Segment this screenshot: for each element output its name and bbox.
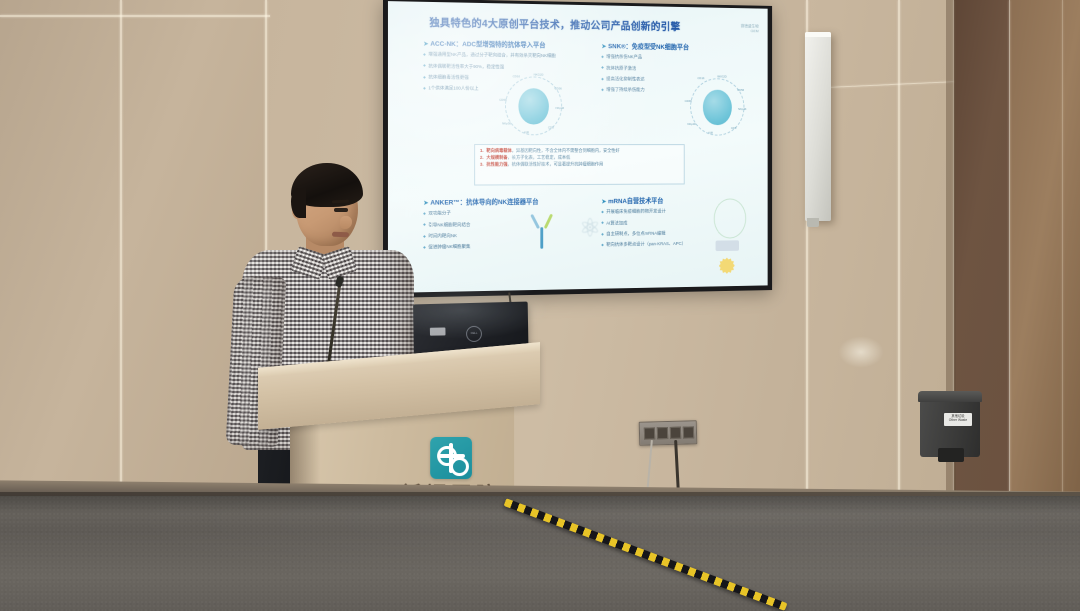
wall-outlet-plate[interactable] xyxy=(639,420,698,446)
mrna-badge-icon xyxy=(719,257,734,273)
bullet-dot-icon xyxy=(423,87,426,90)
presenter-eye xyxy=(334,208,348,212)
bullet-dot-icon xyxy=(423,76,426,79)
mrna-diagram xyxy=(714,198,746,238)
cell-receptor-label: CD56 xyxy=(555,86,562,90)
bullet-dot-icon xyxy=(423,65,426,68)
bullet-dot-icon xyxy=(601,88,604,91)
wall-seam-vertical-6 xyxy=(1009,0,1010,510)
outlet-port[interactable] xyxy=(644,427,655,439)
bullet-item: 增强通用型NK产品，通过分子靶向结合，并有效杀灭靶向NK细胞 xyxy=(423,52,596,61)
cell-receptor-label: NKp46 xyxy=(738,107,746,111)
slide-quadrant-mrna: ➤mRNA自营技术平台 开展临床免疫细胞药物开发设计 AI算法加成 自主研制点，… xyxy=(602,195,716,249)
cell-receptor-label: CD16 xyxy=(513,74,520,78)
bullet-dot-icon xyxy=(601,56,604,59)
mrna-capsule xyxy=(716,240,739,251)
antibody-diagram xyxy=(522,211,577,266)
arrow-icon: ➤ xyxy=(602,199,607,205)
trash-bin-label: 其他垃圾 Other Waste xyxy=(944,413,972,426)
speaker-bottom-bracket xyxy=(807,218,819,227)
outlet-port[interactable] xyxy=(657,427,668,439)
cell-receptor-label: CD56 xyxy=(737,88,744,92)
bullet-item: 抗体偶联靶活性率大于90%，稳定性强 xyxy=(423,63,596,72)
bullet-item: 靶向抗体多靶点设计（pan-KRAS、APC） xyxy=(602,241,716,249)
cell-receptor-label: CD16 xyxy=(697,76,704,80)
slide-corner-logo-line2: GEM xyxy=(741,29,759,34)
clifford-hospital-cross-logo-icon xyxy=(430,437,472,479)
quadrant-heading-acc-nk: ➤ACC-NK：ADC型增强特的抗体导入平台 xyxy=(423,38,596,50)
bullet-dot-icon xyxy=(423,53,426,56)
trash-bin[interactable]: 其他垃圾 Other Waste xyxy=(920,391,980,463)
cell-receptor-label: NKp30 xyxy=(502,121,511,125)
cell-receptor-label: CD69 xyxy=(499,98,506,102)
outlet-port[interactable] xyxy=(683,426,694,438)
cell-receptor-label: NKp46 xyxy=(556,106,565,110)
bullet-item: 提高活化抑制性表达 xyxy=(602,76,712,84)
trash-bin-pedal[interactable] xyxy=(938,448,964,462)
cell-receptor-label: NKG2D xyxy=(534,73,544,77)
wall-seam-vertical-4 xyxy=(898,0,900,505)
bullet-item: AI算法加成 xyxy=(602,219,716,227)
cell-receptor-label: NKp30 xyxy=(687,122,695,126)
bullet-dot-icon xyxy=(601,77,604,80)
arrow-icon: ➤ xyxy=(423,42,428,48)
wall-panel-wood-right xyxy=(1010,0,1080,512)
slide-title: 独具特色的4大原创平台技术，推动公司产品创新的引擎 xyxy=(429,15,739,35)
outlet-port[interactable] xyxy=(670,427,681,439)
bullet-item: 自主研制点，多位点mRNA编辑 xyxy=(602,230,716,238)
projection-screen: 独具特色的4大原创平台技术，推动公司产品创新的引擎 赛德盛生物 GEM ➤ACC… xyxy=(383,0,772,298)
slide-highlight-box: 1.靶向病毒载体，异基因靶向性，不含全体内不需整合到细胞内，安全性好 2.大规模… xyxy=(474,144,685,185)
presenter-mouth xyxy=(332,232,349,238)
dell-logo-icon xyxy=(466,326,482,342)
wall-seam-vertical-1 xyxy=(120,0,122,498)
laptop-sticker xyxy=(430,327,446,335)
logo-loop-lower-right xyxy=(450,457,469,476)
bullet-item: 增强抗杀伤NK产品 xyxy=(602,54,712,62)
bullet-item: 抗体细胞毒活性更强 xyxy=(423,74,596,82)
cell-receptor-label: NKG2D xyxy=(717,75,726,79)
cell-receptor-label: KIR xyxy=(524,130,529,134)
bullet-dot-icon xyxy=(601,211,604,214)
conference-room-photo: 独具特色的4大原创平台技术，推动公司产品创新的引擎 赛德盛生物 GEM ➤ACC… xyxy=(0,0,1080,611)
bullet-dot-icon xyxy=(601,244,604,247)
cell-receptor-label: CD3 xyxy=(731,126,736,130)
slide-quadrant-snk: ➤SNK®：免疫型受NK细胞平台 增强抗杀伤NK产品 抗体抗原子激活 提高活化抑… xyxy=(602,40,712,94)
wall-seam-horizontal-top xyxy=(0,15,270,17)
highlight-line: 3.抗性能力强，抗体偶联活性好技术，可显著提升抗肿瘤细胞作用 xyxy=(480,161,679,168)
bullet-dot-icon xyxy=(601,222,604,225)
cell-receptor-label: CD3 xyxy=(548,126,554,130)
wall-mounted-column-speaker xyxy=(805,32,831,221)
speaker-top-cap xyxy=(805,32,831,37)
bullet-dot-icon xyxy=(601,233,604,236)
bullet-dot-icon xyxy=(601,67,604,70)
slide-quadrant-acc-nk: ➤ACC-NK：ADC型增强特的抗体导入平台 增强通用型NK产品，通过分子靶向结… xyxy=(423,38,596,94)
cell-receptor-label: KIR xyxy=(708,131,713,135)
cell-receptor-label: CD69 xyxy=(685,99,692,103)
quadrant-heading-snk: ➤SNK®：免疫型受NK细胞平台 xyxy=(602,40,712,51)
quadrant-heading-mrna: ➤mRNA自营技术平台 xyxy=(602,195,716,205)
presenter-sideburn xyxy=(291,188,306,218)
arrow-icon: ➤ xyxy=(602,44,607,50)
presentation-slide: 独具特色的4大原创平台技术，推动公司产品创新的引擎 赛德盛生物 GEM ➤ACC… xyxy=(388,1,768,293)
quadrant-heading-anker: ➤ANKER™：抗体导向的NK连接器平台 xyxy=(423,196,577,207)
slide-corner-logo: 赛德盛生物 GEM xyxy=(741,23,759,34)
bullet-item: 开展临床免疫细胞药物开发设计 xyxy=(602,209,716,217)
bullet-item: 抗体抗原子激活 xyxy=(602,65,712,73)
trash-bin-label-en: Other Waste xyxy=(944,418,972,422)
trash-bin-lid[interactable] xyxy=(918,391,982,402)
wall-seam-vertical-7 xyxy=(1062,0,1063,512)
molecule-art-left: ⚛ xyxy=(579,215,601,241)
